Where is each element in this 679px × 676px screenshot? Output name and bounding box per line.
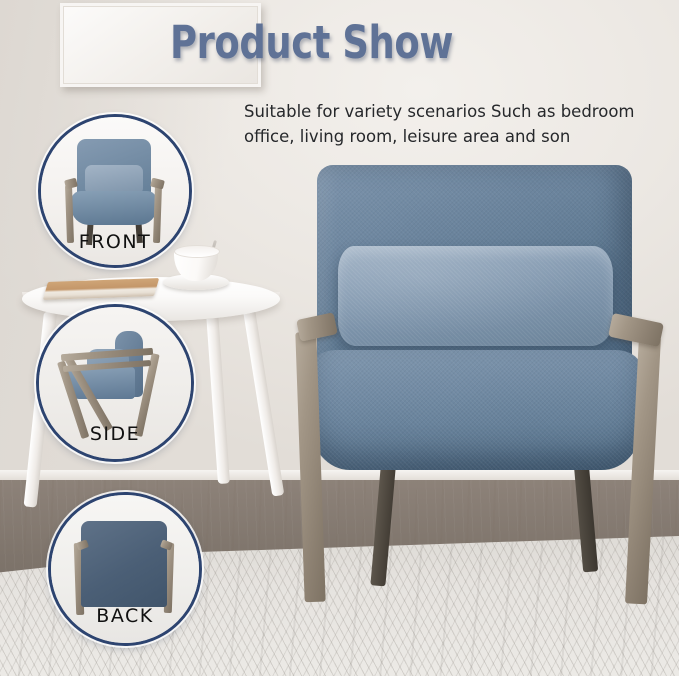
callout-front[interactable]: FRONT bbox=[38, 114, 192, 268]
callout-back-label: BACK bbox=[51, 605, 199, 627]
callout-side[interactable]: SIDE bbox=[36, 304, 194, 462]
chair-seat-cushion bbox=[310, 350, 642, 470]
callout-back[interactable]: BACK bbox=[48, 492, 202, 646]
page-title: Product Show bbox=[170, 16, 453, 69]
page-subtitle: Suitable for variety scenarios Such as b… bbox=[244, 99, 664, 149]
callout-front-label: FRONT bbox=[41, 231, 189, 253]
chair-lumbar-pillow bbox=[338, 246, 613, 346]
product-show-banner: Product Show Suitable for variety scenar… bbox=[0, 0, 679, 676]
callout-side-label: SIDE bbox=[39, 423, 191, 445]
back-view-panel bbox=[81, 521, 167, 607]
main-accent-chair bbox=[280, 150, 679, 620]
chair-back-leg-left bbox=[370, 456, 396, 587]
front-view-seat bbox=[71, 191, 157, 225]
